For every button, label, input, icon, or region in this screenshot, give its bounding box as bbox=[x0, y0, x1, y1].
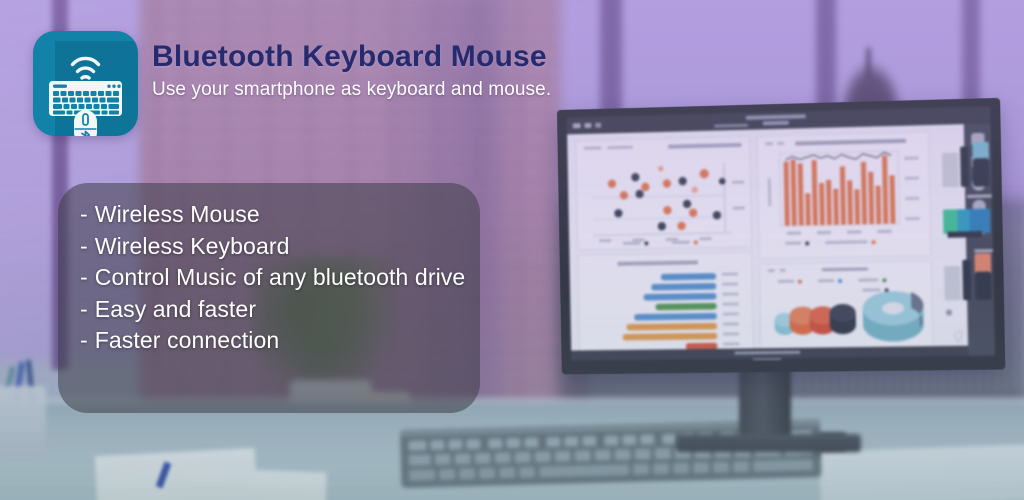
page-title: Bluetooth Keyboard Mouse bbox=[152, 38, 551, 76]
app-icon bbox=[33, 31, 138, 136]
feature-label: Wireless Keyboard bbox=[95, 231, 466, 262]
title-block: Bluetooth Keyboard Mouse Use your smartp… bbox=[152, 38, 551, 101]
feature-label: Control Music of any bluetooth drive bbox=[95, 262, 466, 293]
bullet-dash: - bbox=[80, 325, 88, 356]
list-item: - Wireless Mouse bbox=[80, 199, 466, 230]
feature-list: - Wireless Mouse - Wireless Keyboard - C… bbox=[80, 199, 466, 357]
mouse-icon bbox=[74, 110, 97, 136]
page-subtitle: Use your smartphone as keyboard and mous… bbox=[152, 79, 551, 101]
bluetooth-keyboard-mouse-icon bbox=[33, 31, 138, 136]
list-item: - Control Music of any bluetooth drive bbox=[80, 262, 466, 293]
feature-label: Faster connection bbox=[95, 325, 466, 356]
feature-label: Easy and faster bbox=[95, 294, 466, 325]
wifi-signal-icon bbox=[73, 58, 99, 78]
bullet-dash: - bbox=[80, 199, 88, 230]
feature-label: Wireless Mouse bbox=[95, 199, 466, 230]
bullet-dash: - bbox=[80, 231, 88, 262]
feature-list-panel: - Wireless Mouse - Wireless Keyboard - C… bbox=[58, 183, 480, 413]
list-item: - Wireless Keyboard bbox=[80, 231, 466, 262]
list-item: - Faster connection bbox=[80, 325, 466, 356]
feature-graphic: Bluetooth Keyboard Mouse Use your smartp… bbox=[0, 0, 1024, 500]
foreground-content: Bluetooth Keyboard Mouse Use your smartp… bbox=[0, 0, 1024, 500]
bullet-dash: - bbox=[80, 262, 88, 293]
list-item: - Easy and faster bbox=[80, 294, 466, 325]
bullet-dash: - bbox=[80, 294, 88, 325]
